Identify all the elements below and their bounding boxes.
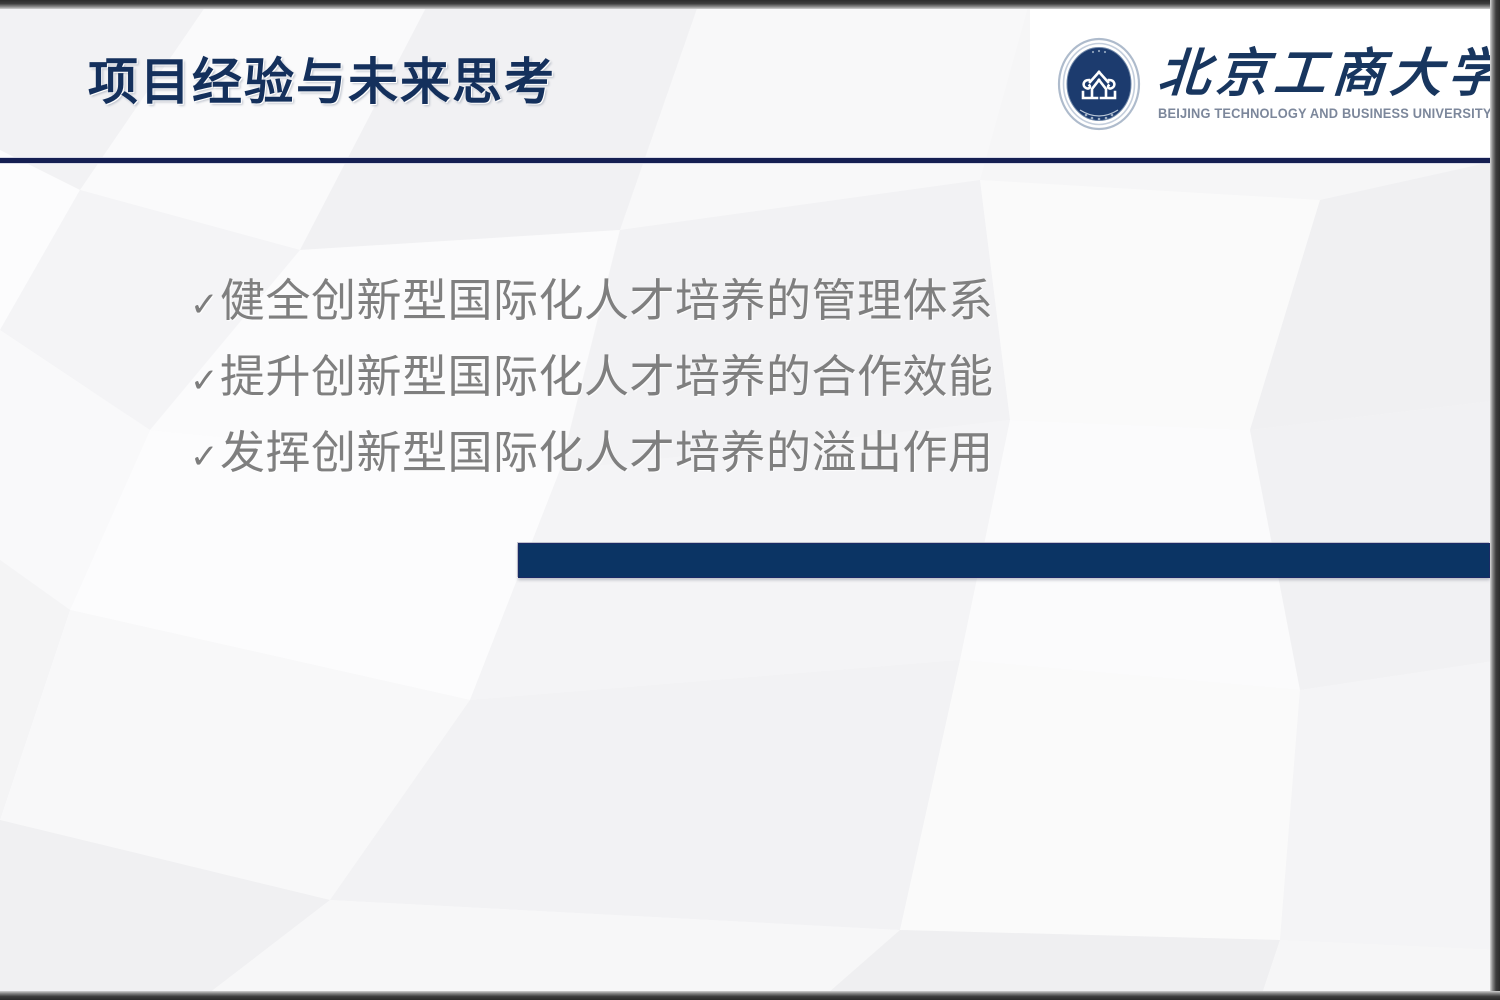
accent-bar	[518, 543, 1490, 578]
list-item-label: 发挥创新型国际化人才培养的溢出作用	[220, 430, 994, 475]
presentation-slide: 项目经验与未来思考	[0, 0, 1500, 1000]
page-title: 项目经验与未来思考	[88, 57, 556, 107]
logo-chinese-name: 北京工商大学	[1156, 47, 1500, 102]
list-item: ✓ 健全创新型国际化人才培养的管理体系	[190, 278, 994, 354]
university-logo: 北京工商大学 BEIJING TECHNOLOGY AND BUSINESS U…	[1030, 9, 1490, 159]
university-seal-emblem	[1056, 36, 1142, 132]
slide-header: 项目经验与未来思考	[0, 9, 1500, 159]
list-item: ✓ 发挥创新型国际化人才培养的溢出作用	[190, 430, 994, 506]
check-icon: ✓	[190, 288, 220, 322]
list-item-label: 健全创新型国际化人才培养的管理体系	[220, 278, 994, 323]
list-item: ✓ 提升创新型国际化人才培养的合作效能	[190, 354, 994, 430]
logo-wordmark: 北京工商大学 BEIJING TECHNOLOGY AND BUSINESS U…	[1158, 47, 1500, 121]
check-icon: ✓	[190, 440, 220, 474]
bullet-list: ✓ 健全创新型国际化人才培养的管理体系 ✓ 提升创新型国际化人才培养的合作效能 …	[190, 278, 994, 506]
list-item-label: 提升创新型国际化人才培养的合作效能	[220, 354, 994, 399]
logo-english-name: BEIJING TECHNOLOGY AND BUSINESS UNIVERSI…	[1158, 106, 1492, 121]
check-icon: ✓	[190, 364, 220, 398]
header-divider-rule	[0, 158, 1500, 163]
